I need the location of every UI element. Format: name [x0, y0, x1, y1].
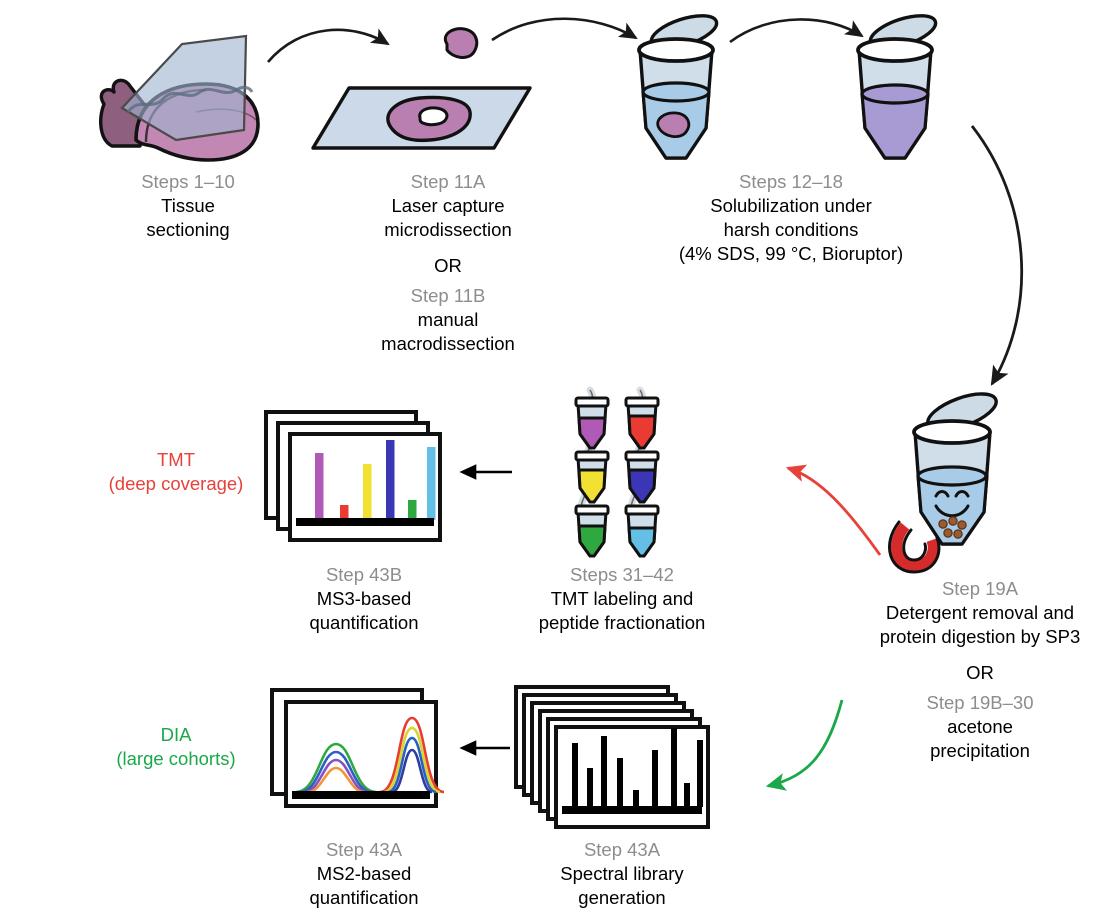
- step-label-43a-speclib: Step 43A: [500, 838, 744, 862]
- caption-or-lcm: OR: [322, 254, 574, 278]
- caption-line-tmtlab-2: peptide fractionation: [500, 611, 744, 635]
- row-label-tmt-subtitle: (deep coverage): [88, 472, 264, 496]
- tissue-block-illustration: [101, 36, 258, 160]
- caption-line-ms2-1: MS2-based: [254, 862, 474, 886]
- caption-line-lcm-1: Laser capture: [322, 194, 574, 218]
- step-label-11b: Step 11B: [322, 284, 574, 308]
- row-label-tmt: TMT (deep coverage): [88, 448, 264, 496]
- arrow-lysate-to-sp3: [972, 126, 1022, 384]
- arrow-sp3-to-dia: [768, 700, 842, 786]
- row-label-tmt-title: TMT: [88, 448, 264, 472]
- caption-line-speclib-1: Spectral library: [500, 862, 744, 886]
- caption-line-macro-1: manual: [322, 308, 574, 332]
- caption-spectral-library: Step 43A Spectral library generation: [500, 838, 744, 910]
- caption-line-ms3-2: quantification: [254, 611, 474, 635]
- row-label-dia-title: DIA: [88, 723, 264, 747]
- caption-solubilization: Steps 12–18 Solubilization under harsh c…: [630, 170, 952, 266]
- caption-tissue-sectioning: Steps 1–10 Tissue sectioning: [72, 170, 304, 242]
- caption-line-ms2-2: quantification: [254, 886, 474, 910]
- caption-sp3-digestion: Step 19A Detergent removal and protein d…: [852, 577, 1108, 763]
- sp3-tube-illustration: [889, 387, 1000, 572]
- caption-line-ms3-1: MS3-based: [254, 587, 474, 611]
- caption-tmt-labeling: Steps 31–42 TMT labeling and peptide fra…: [500, 563, 744, 635]
- caption-line-tissue-2: sectioning: [72, 218, 304, 242]
- caption-line-acetone-2: precipitation: [852, 739, 1108, 763]
- arrow-lcm-to-tube: [492, 19, 636, 40]
- tmt-tube-rack-illustration: [576, 390, 658, 556]
- step-label-tissue: Steps 1–10: [72, 170, 304, 194]
- caption-line-sp3-2: protein digestion by SP3: [852, 625, 1108, 649]
- lcm-slide-illustration: [313, 29, 530, 148]
- arrow-tissue-to-lcm: [268, 30, 388, 62]
- caption-line-speclib-2: generation: [500, 886, 744, 910]
- caption-line-solub-1: Solubilization under: [630, 194, 952, 218]
- row-label-dia-subtitle: (large cohorts): [88, 747, 264, 771]
- caption-or-sp3: OR: [852, 661, 1108, 685]
- step-label-12-18: Steps 12–18: [630, 170, 952, 194]
- tube-with-lysate-illustration: [858, 9, 939, 158]
- workflow-figure: Steps 1–10 Tissue sectioning Step 11A La…: [0, 0, 1110, 910]
- spectral-library-illustration: [516, 687, 708, 827]
- caption-line-lcm-2: microdissection: [322, 218, 574, 242]
- caption-ms2-quantification: Step 43A MS2-based quantification: [254, 838, 474, 910]
- step-label-31-42: Steps 31–42: [500, 563, 744, 587]
- step-label-19a: Step 19A: [852, 577, 1108, 601]
- caption-line-acetone-1: acetone: [852, 715, 1108, 739]
- caption-line-solub-2: harsh conditions: [630, 218, 952, 242]
- caption-line-tmtlab-1: TMT labeling and: [500, 587, 744, 611]
- row-label-dia: DIA (large cohorts): [88, 723, 264, 771]
- step-label-19b-30: Step 19B–30: [852, 691, 1108, 715]
- caption-line-tissue-1: Tissue: [72, 194, 304, 218]
- ms3-chart-illustration: [266, 412, 440, 540]
- caption-laser-capture-microdissection: Step 11A Laser capture microdissection O…: [322, 170, 574, 356]
- step-label-43b: Step 43B: [254, 563, 474, 587]
- caption-line-solub-3: (4% SDS, 99 °C, Bioruptor): [630, 242, 952, 266]
- caption-ms3-quantification: Step 43B MS3-based quantification: [254, 563, 474, 635]
- dia-chart-illustration: [272, 690, 444, 806]
- step-label-43a-ms2: Step 43A: [254, 838, 474, 862]
- step-label-11a: Step 11A: [322, 170, 574, 194]
- tube-with-tissue-illustration: [639, 9, 720, 158]
- caption-line-sp3-1: Detergent removal and: [852, 601, 1108, 625]
- arrow-tube-to-lysate: [730, 19, 862, 42]
- arrow-sp3-to-tmt: [788, 468, 880, 555]
- caption-line-macro-2: macrodissection: [322, 332, 574, 356]
